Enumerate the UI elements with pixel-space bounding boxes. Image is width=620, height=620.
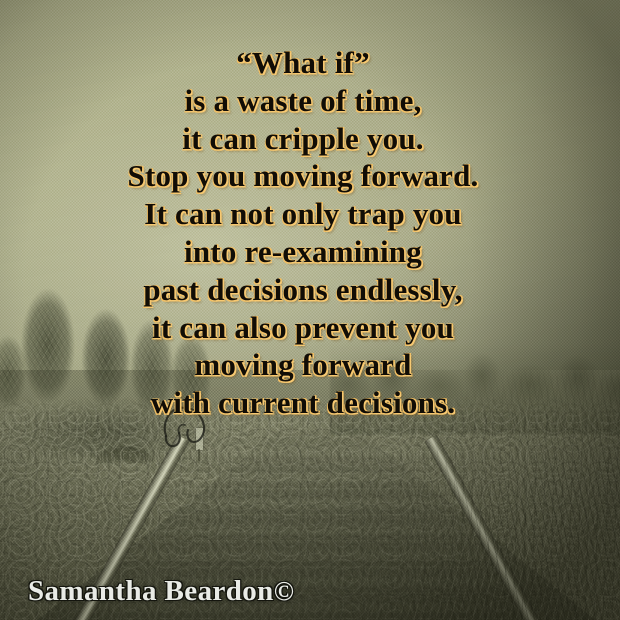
quote-line-9: moving forward bbox=[0, 346, 606, 384]
quote-line-6: into re-examining bbox=[0, 233, 606, 271]
quote-line-4: Stop you moving forward. bbox=[0, 157, 606, 195]
quote-line-8: it can also prevent you bbox=[0, 309, 606, 347]
quote-line-5: It can not only trap you bbox=[0, 195, 606, 233]
quote-line-3: it can cripple you. bbox=[0, 120, 606, 158]
quote-line-7: past decisions endlessly, bbox=[0, 271, 606, 309]
quote-line-1: “What if” bbox=[0, 44, 606, 82]
quote-line-10: with current decisions. bbox=[0, 384, 606, 422]
quote-text-block: “What if” is a waste of time, it can cri… bbox=[0, 44, 606, 422]
signature-name: Samantha Beardon bbox=[28, 575, 274, 607]
author-signature-watermark: Samantha Beardon© bbox=[28, 576, 294, 606]
quote-image-card: “What if” is a waste of time, it can cri… bbox=[0, 0, 620, 620]
quote-line-2: is a waste of time, bbox=[0, 82, 606, 120]
trackside-marker-post bbox=[196, 428, 203, 450]
copyright-icon: © bbox=[274, 576, 295, 606]
